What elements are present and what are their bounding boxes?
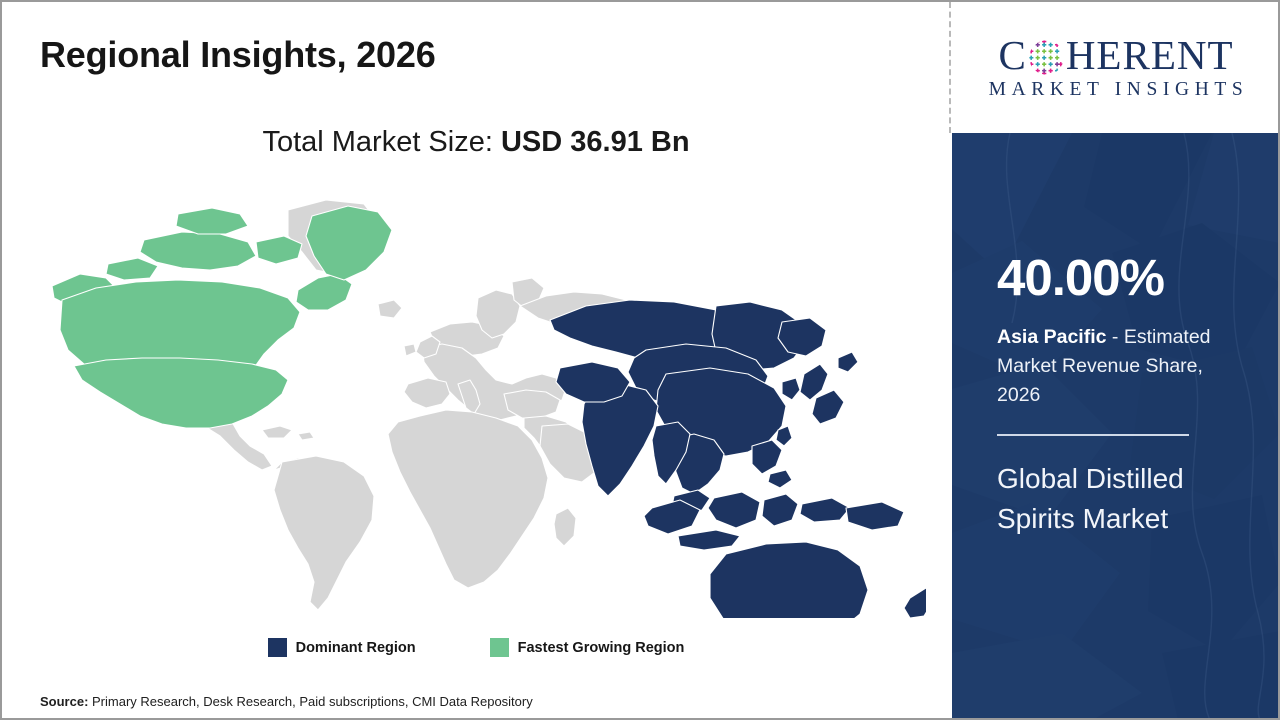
map-region-dominant	[550, 300, 926, 618]
world-map-container	[26, 178, 926, 618]
source-note: Source: Primary Research, Desk Research,…	[40, 694, 533, 709]
fastest-growing-region-swatch	[490, 638, 509, 657]
map-legend: Dominant Region Fastest Growing Region	[2, 638, 950, 657]
source-label: Source:	[40, 694, 92, 709]
page-title: Regional Insights, 2026	[40, 34, 436, 76]
brand-logo: C	[952, 2, 1280, 133]
total-market-size-value: USD 36.91 Bn	[501, 126, 690, 158]
market-name: Global Distilled Spirits Market	[997, 459, 1247, 539]
world-map-svg	[26, 178, 926, 618]
logo-wordmark-rest: HERENT	[1066, 35, 1234, 76]
legend-item-fastest-growing: Fastest Growing Region	[490, 638, 685, 657]
dominant-region-swatch	[268, 638, 287, 657]
panel-divider-rule	[997, 434, 1189, 436]
logo-wordmark-first-letter: C	[998, 35, 1026, 76]
left-content-panel: Regional Insights, 2026 Total Market Siz…	[2, 2, 950, 718]
legend-label-fastest-growing: Fastest Growing Region	[518, 640, 685, 656]
region-name: Asia Pacific	[997, 326, 1106, 348]
vertical-dashed-divider	[949, 2, 951, 133]
logo-wordmark: C	[998, 35, 1233, 76]
region-highlight-panel: 40.00% Asia Pacific - Estimated Market R…	[952, 133, 1280, 720]
revenue-share-percent: 40.00%	[997, 252, 1164, 303]
legend-label-dominant: Dominant Region	[296, 640, 416, 656]
panel-content: 40.00% Asia Pacific - Estimated Market R…	[997, 133, 1247, 720]
source-text: Primary Research, Desk Research, Paid su…	[92, 694, 533, 709]
revenue-share-description: Asia Pacific - Estimated Market Revenue …	[997, 323, 1235, 410]
legend-item-dominant: Dominant Region	[268, 638, 416, 657]
regional-insights-infographic: Regional Insights, 2026 Total Market Siz…	[0, 0, 1280, 720]
map-region-fastest-growing	[52, 206, 392, 428]
logo-subtitle: MARKET INSIGHTS	[984, 79, 1249, 101]
total-market-size-label: Total Market Size:	[262, 126, 501, 158]
globe-dots-icon	[1028, 39, 1065, 76]
total-market-size: Total Market Size: USD 36.91 Bn	[2, 126, 950, 159]
